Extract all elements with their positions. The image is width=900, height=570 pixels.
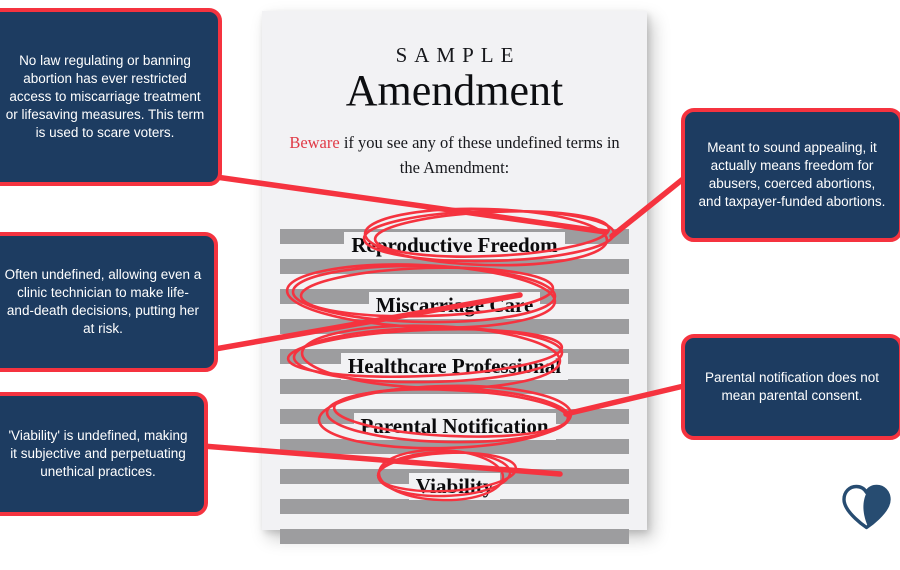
callout-viability: 'Viability' is undefined, making it subj… — [0, 392, 208, 516]
sample-amendment-document: SAMPLE Amendment Beware if you see any o… — [262, 11, 647, 530]
callout-text: Meant to sound appealing, it actually me… — [697, 139, 887, 211]
undefined-term: Viability — [262, 473, 647, 500]
callout-text: Parental notification does not mean pare… — [697, 369, 887, 405]
undefined-term-label: Parental Notification — [354, 413, 556, 440]
redacted-bar — [280, 259, 629, 274]
redacted-bar — [280, 529, 629, 544]
beware-word: Beware — [289, 133, 339, 152]
undefined-term-label: Healthcare Professional — [341, 353, 568, 380]
document-eyebrow: SAMPLE — [262, 43, 647, 68]
undefined-term-label: Miscarriage Care — [369, 292, 541, 319]
callout-text: No law regulating or banning abortion ha… — [4, 52, 206, 142]
callout-reproductive-freedom: Meant to sound appealing, it actually me… — [681, 108, 900, 242]
document-subtitle: Beware if you see any of these undefined… — [280, 131, 629, 181]
redacted-text-bars — [280, 229, 629, 559]
heart-logo — [840, 482, 892, 530]
undefined-term-label: Reproductive Freedom — [344, 232, 564, 259]
callout-miscarriage-care: No law regulating or banning abortion ha… — [0, 8, 222, 186]
callout-text: Often undefined, allowing even a clinic … — [4, 266, 202, 338]
redacted-bar — [280, 499, 629, 514]
redacted-bar — [280, 439, 629, 454]
callout-healthcare-professional: Often undefined, allowing even a clinic … — [0, 232, 218, 372]
infographic-canvas: SAMPLE Amendment Beware if you see any o… — [0, 0, 900, 570]
undefined-term: Parental Notification — [262, 413, 647, 440]
undefined-term: Healthcare Professional — [262, 353, 647, 380]
subtitle-rest: if you see any of these undefined terms … — [340, 133, 620, 177]
callout-text: 'Viability' is undefined, making it subj… — [4, 427, 192, 481]
document-title: Amendment — [262, 66, 647, 117]
undefined-term-label: Viability — [409, 473, 500, 500]
undefined-term: Reproductive Freedom — [262, 232, 647, 259]
undefined-term: Miscarriage Care — [262, 292, 647, 319]
redacted-bar — [280, 319, 629, 334]
callout-parental-notification: Parental notification does not mean pare… — [681, 334, 900, 440]
redacted-bar — [280, 379, 629, 394]
